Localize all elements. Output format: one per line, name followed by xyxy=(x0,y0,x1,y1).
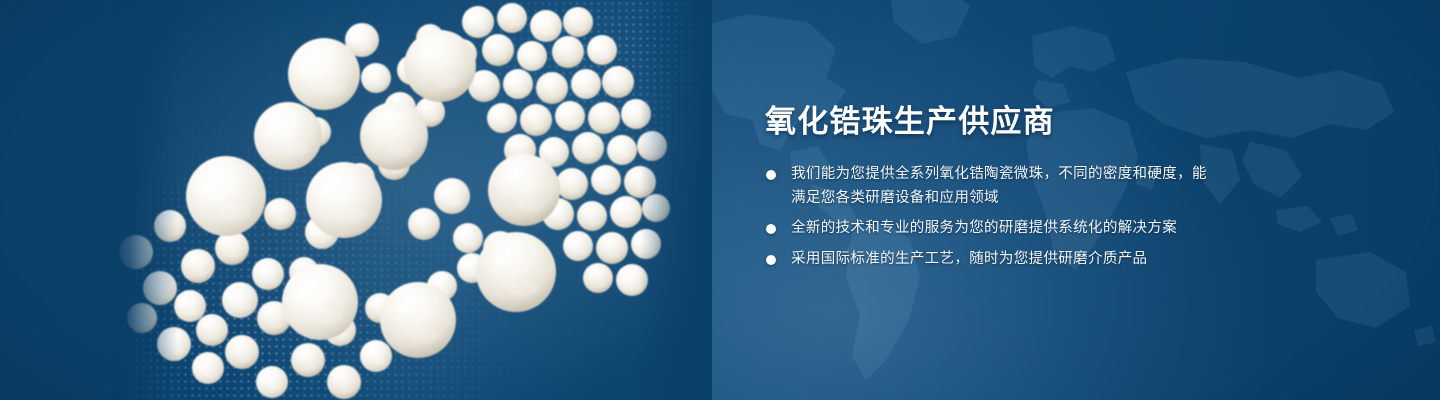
banner-copy-block: 氧化锆珠生产供应商 我们能为您提供全系列氧化锆陶瓷微珠，不同的密度和硬度，能满足… xyxy=(765,104,1405,272)
hero-banner: 氧化锆珠生产供应商 我们能为您提供全系列氧化锆陶瓷微珠，不同的密度和硬度，能满足… xyxy=(0,0,1440,400)
list-item: 我们能为您提供全系列氧化锆陶瓷微珠，不同的密度和硬度，能满足您各类研磨设备和应用… xyxy=(765,163,1221,211)
zirconia-beads-photo xyxy=(112,0,712,400)
list-item-label: 采用国际标准的生产工艺，随时为您提供研磨介质产品 xyxy=(791,251,1147,267)
page-title: 氧化锆珠生产供应商 xyxy=(765,104,1405,141)
beads-cluster xyxy=(112,0,712,400)
feature-list: 我们能为您提供全系列氧化锆陶瓷微珠，不同的密度和硬度，能满足您各类研磨设备和应用… xyxy=(765,163,1405,273)
list-item: 全新的技术和专业的服务为您的研磨提供系统化的解决方案 xyxy=(765,217,1221,241)
list-item-label: 我们能为您提供全系列氧化锆陶瓷微珠，不同的密度和硬度，能满足您各类研磨设备和应用… xyxy=(791,166,1207,206)
list-item-label: 全新的技术和专业的服务为您的研磨提供系统化的解决方案 xyxy=(791,220,1177,236)
bullet-dot-icon xyxy=(766,170,776,180)
bullet-dot-icon xyxy=(766,224,776,234)
bullet-dot-icon xyxy=(766,255,776,265)
list-item: 采用国际标准的生产工艺，随时为您提供研磨介质产品 xyxy=(765,248,1221,272)
